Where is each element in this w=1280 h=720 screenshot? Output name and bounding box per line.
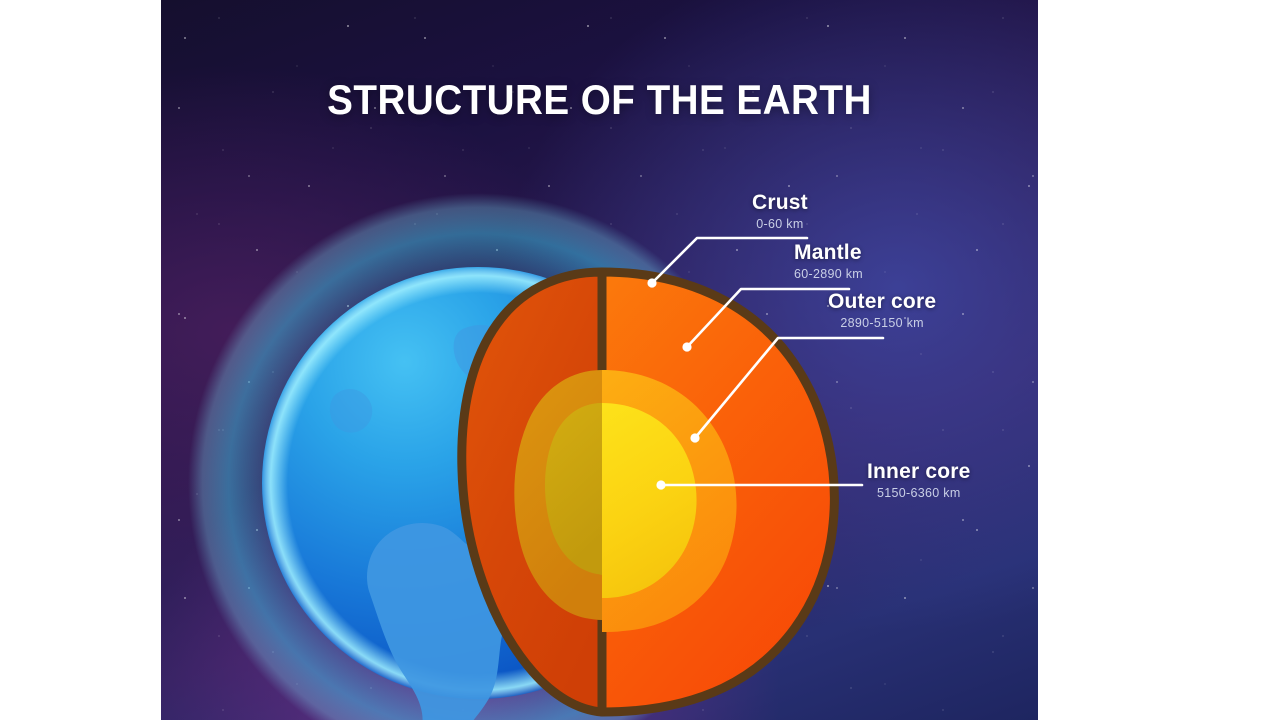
- callout-inner-core-range: 5150-6360 km: [867, 487, 971, 500]
- leader-dot-crust: [647, 278, 656, 287]
- callout-crust-range: 0-60 km: [752, 218, 808, 231]
- screenshot-canvas: STRUCTURE OF THE EARTH Crust 0-60 km Man…: [0, 0, 1280, 720]
- space-background-panel: STRUCTURE OF THE EARTH Crust 0-60 km Man…: [161, 0, 1038, 720]
- leader-dot-inner-core: [656, 480, 665, 489]
- callout-inner-core-title: Inner core: [867, 460, 971, 483]
- callout-outer-core: Outer core 2890-5150 km: [828, 291, 936, 330]
- callout-outer-core-range: 2890-5150 km: [828, 317, 936, 330]
- callout-crust: Crust 0-60 km: [752, 192, 808, 231]
- callout-outer-core-title: Outer core: [828, 290, 936, 313]
- callout-crust-title: Crust: [752, 191, 808, 214]
- leader-dot-mantle: [682, 342, 691, 351]
- callout-inner-core: Inner core 5150-6360 km: [867, 461, 971, 500]
- page-title: STRUCTURE OF THE EARTH: [196, 76, 1003, 124]
- callout-mantle-range: 60-2890 km: [794, 268, 863, 281]
- leader-dot-outer-core: [690, 433, 699, 442]
- callout-mantle-title: Mantle: [794, 241, 862, 264]
- callout-mantle: Mantle 60-2890 km: [794, 242, 863, 281]
